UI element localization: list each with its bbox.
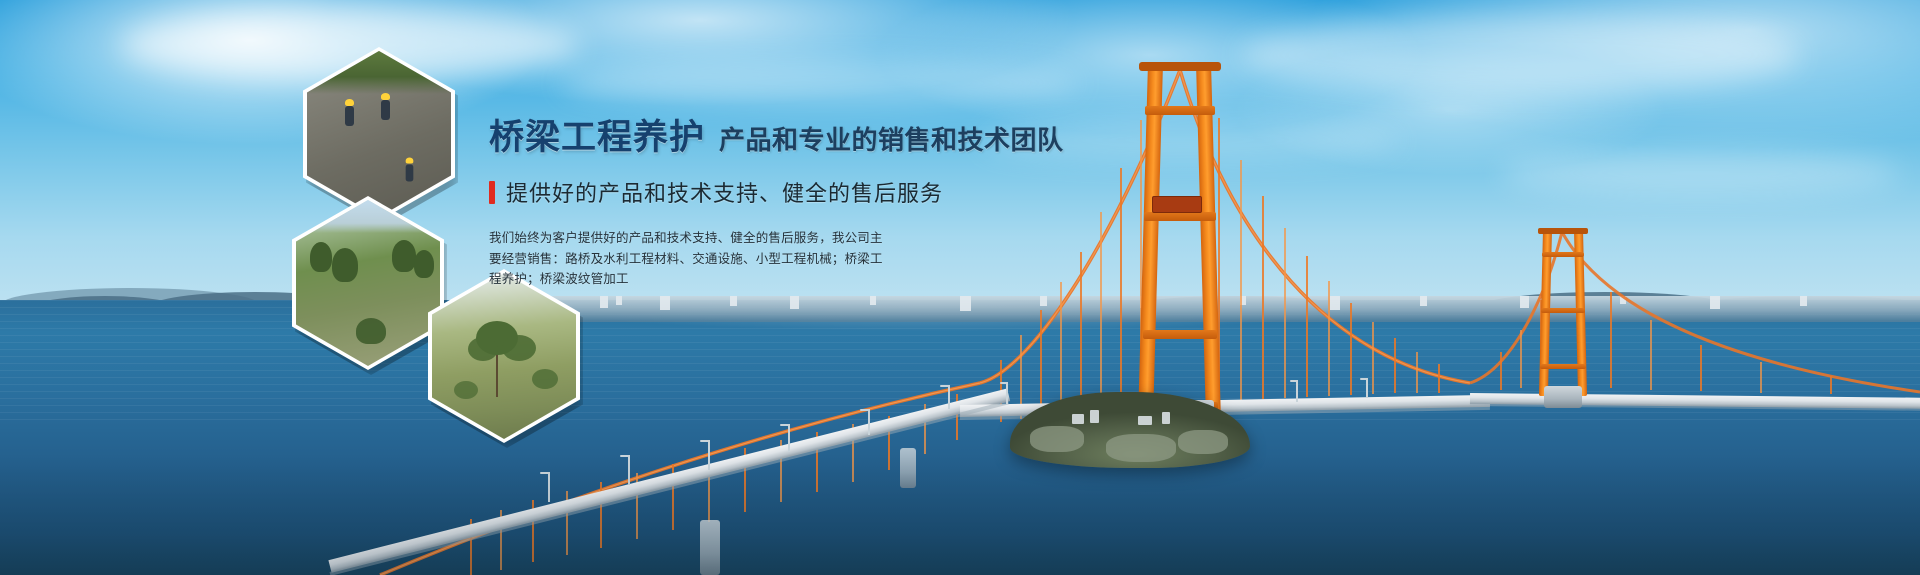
bridge-pier — [1544, 386, 1582, 408]
rock-slope-mesh-installation-photo — [307, 51, 451, 217]
hero-banner: 桥梁工程养护 产品和专业的销售和技术团队 提供好的产品和技术支持、健全的售后服务… — [0, 0, 1920, 575]
hex-photo-rock-slope[interactable] — [303, 47, 455, 221]
headline-primary: 桥梁工程养护 — [489, 120, 705, 155]
green-hillside-mesh-photo — [296, 200, 440, 366]
subheadline-text: 提供好的产品和技术支持、健全的售后服务 — [506, 176, 943, 208]
accent-bar-icon — [489, 181, 495, 204]
bridge-pier — [900, 448, 916, 488]
tower-sign — [1152, 196, 1202, 213]
subheadline-row: 提供好的产品和技术支持、健全的售后服务 — [489, 176, 1049, 208]
hex-photo-green-hillside[interactable] — [292, 196, 444, 370]
headline-row: 桥梁工程养护 产品和专业的销售和技术团队 — [489, 120, 1049, 155]
bridge-pier — [700, 520, 720, 575]
bridge-tower-secondary — [1536, 228, 1590, 396]
banner-text-block: 桥梁工程养护 产品和专业的销售和技术团队 提供好的产品和技术支持、健全的售后服务… — [489, 120, 1049, 290]
bridge-tower-main — [1135, 62, 1227, 422]
headline-secondary: 产品和专业的销售和技术团队 — [719, 127, 1064, 155]
grass-slope-mesh-photo — [432, 273, 576, 439]
hex-photo-grass-slope[interactable] — [428, 269, 580, 443]
banner-paragraph: 我们始终为客户提供好的产品和技术支持、健全的售后服务，我公司主要经营销售：路桥及… — [489, 228, 889, 290]
